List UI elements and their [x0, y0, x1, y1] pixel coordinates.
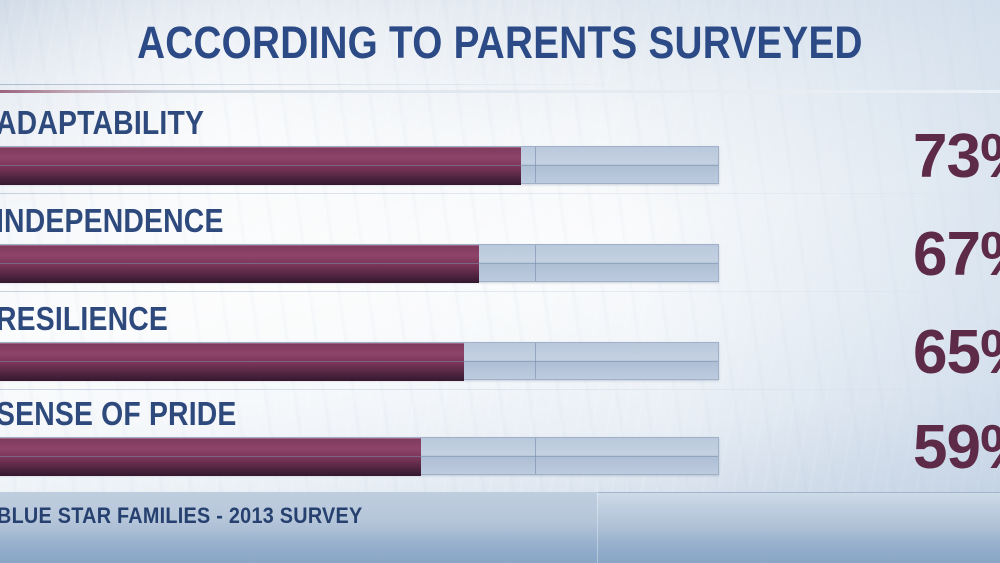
bar-value-number: 73: [913, 122, 980, 191]
bar-label-text: INDEPENDENCE: [0, 202, 224, 240]
headline-primary-text: POSITIVE EFFECTS OF DEPLOYMENT ON CHILDR…: [80, 0, 920, 11]
bar-track: [0, 146, 719, 184]
bar-value: 67%: [913, 222, 1000, 288]
footer-seam: [597, 492, 598, 563]
bar-label-text: SENSE OF PRIDE: [0, 395, 237, 433]
bar-value-number: 67: [913, 220, 980, 289]
bar-track-tick: [535, 438, 536, 474]
bar-label: SENSE OF PRIDE: [0, 395, 276, 433]
source-attribution: BLUE STAR FAMILIES - 2013 SURVEY: [0, 503, 403, 529]
bar-track: [0, 342, 719, 380]
bar-track: [0, 437, 719, 475]
bar-value-number: 59: [913, 413, 980, 482]
bar-fill: [0, 245, 479, 283]
header-divider-thin: [0, 84, 640, 85]
bar-value-number: 65: [913, 318, 980, 387]
bar-track-tick: [535, 245, 536, 281]
row-separator: [0, 193, 1000, 194]
bar-label: INDEPENDENCE: [0, 202, 261, 240]
bar-track-tick: [535, 147, 536, 183]
bar-track: [0, 244, 719, 282]
bar-fill: [0, 438, 421, 476]
bar-label-text: RESILIENCE: [0, 300, 168, 338]
bar-fill: [0, 343, 464, 381]
bar-value-suffix: %: [980, 220, 1000, 289]
bar-fill: [0, 147, 521, 185]
bar-value: 73%: [913, 124, 1000, 190]
headline-primary-clipped: POSITIVE EFFECTS OF DEPLOYMENT ON CHILDR…: [0, 0, 1000, 11]
row-separator: [0, 291, 1000, 292]
headline-secondary: ACCORDING TO PARENTS SURVEYED: [0, 18, 1000, 68]
infographic-screen: POSITIVE EFFECTS OF DEPLOYMENT ON CHILDR…: [0, 0, 1000, 563]
source-attribution-text: BLUE STAR FAMILIES - 2013 SURVEY: [0, 503, 362, 529]
bar-label-text: ADAPTABILITY: [0, 104, 204, 142]
row-separator: [0, 389, 1000, 390]
bar-value-suffix: %: [980, 413, 1000, 482]
bar-value-suffix: %: [980, 318, 1000, 387]
headline-secondary-text: ACCORDING TO PARENTS SURVEYED: [137, 18, 863, 68]
bar-label: ADAPTABILITY: [0, 104, 238, 142]
header-divider: [0, 90, 1000, 93]
bar-value: 59%: [913, 415, 1000, 481]
bar-value-suffix: %: [980, 122, 1000, 191]
bar-value: 65%: [913, 320, 1000, 386]
bar-track-tick: [535, 343, 536, 379]
bar-label: RESILIENCE: [0, 300, 196, 338]
